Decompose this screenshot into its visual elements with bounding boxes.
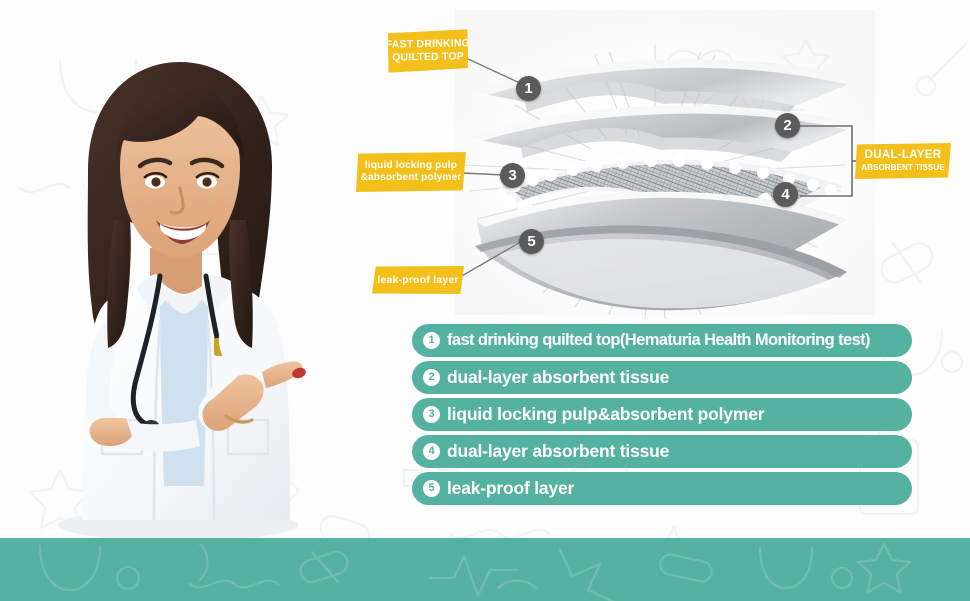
diagram-badge-2: 2 bbox=[775, 113, 800, 138]
legend-label-3: liquid locking pulp&absorbent polymer bbox=[447, 404, 764, 425]
diagram-badge-4: 4 bbox=[773, 182, 798, 207]
tag-line-1: leak-proof layer bbox=[377, 274, 458, 287]
legend-item-5: 5 leak-proof layer bbox=[412, 472, 912, 505]
legend-number-5: 5 bbox=[423, 480, 440, 497]
legend-number-1: 1 bbox=[423, 332, 440, 349]
tag-line-1: liquid locking pulp bbox=[365, 160, 457, 172]
legend-label-1: fast drinking quilted top(Hematuria Heal… bbox=[447, 331, 870, 350]
callout-tag-dual-layer-absorbent-tissue: DUAL-LAYER ABSORBENT TISSUE bbox=[855, 143, 951, 179]
legend-number-4: 4 bbox=[423, 443, 440, 460]
legend-number-3: 3 bbox=[423, 406, 440, 423]
legend-item-1: 1 fast drinking quilted top(Hematuria He… bbox=[412, 324, 912, 357]
legend-list: 1 fast drinking quilted top(Hematuria He… bbox=[412, 324, 912, 509]
legend-item-2: 2 dual-layer absorbent tissue bbox=[412, 361, 912, 394]
tag-line-2: &absorbent polymer bbox=[361, 172, 462, 184]
diagram-badge-1: 1 bbox=[516, 76, 541, 101]
diagram-badge-5: 5 bbox=[519, 229, 544, 254]
callout-tag-liquid-locking-pulp: liquid locking pulp &absorbent polymer bbox=[356, 152, 466, 192]
tag-line-2: ABSORBENT TISSUE bbox=[861, 162, 944, 174]
legend-item-4: 4 dual-layer absorbent tissue bbox=[412, 435, 912, 468]
legend-label-4: dual-layer absorbent tissue bbox=[447, 441, 669, 462]
tag-line-2: QUILTED TOP bbox=[392, 50, 464, 64]
callout-tag-leak-proof-layer: leak-proof layer bbox=[372, 266, 464, 294]
doctor-photo bbox=[10, 20, 340, 540]
tag-line-1: DUAL-LAYER bbox=[865, 149, 942, 161]
band-doodle-pattern bbox=[0, 538, 970, 601]
poster-canvas: 1 2 3 4 5 FAST DRINKING QUILTED TOP liqu… bbox=[0, 0, 970, 601]
diagram-badge-3: 3 bbox=[500, 163, 525, 188]
legend-number-2: 2 bbox=[423, 369, 440, 386]
layer-diagram bbox=[455, 10, 875, 315]
legend-label-5: leak-proof layer bbox=[447, 478, 574, 499]
callout-tag-fast-drinking-quilted-top: FAST DRINKING QUILTED TOP bbox=[388, 29, 469, 72]
bottom-teal-band bbox=[0, 538, 970, 601]
legend-item-3: 3 liquid locking pulp&absorbent polymer bbox=[412, 398, 912, 431]
legend-label-2: dual-layer absorbent tissue bbox=[447, 367, 669, 388]
